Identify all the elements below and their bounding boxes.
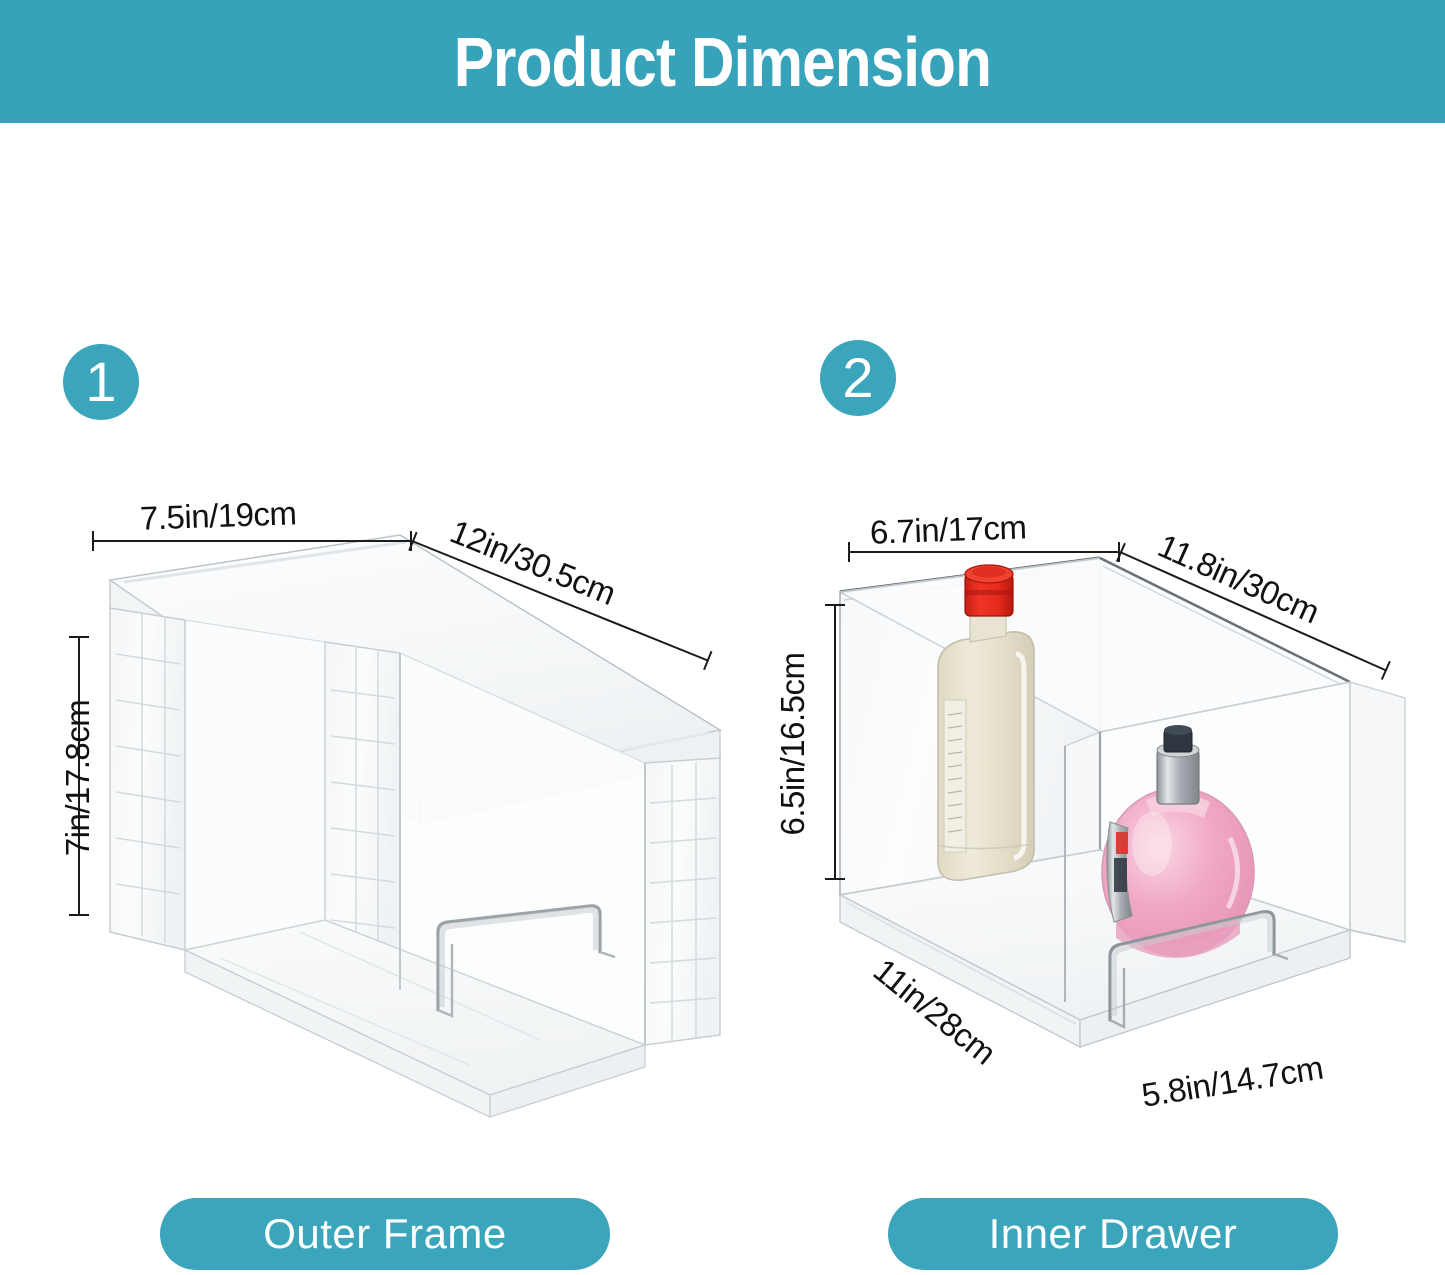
inner-drawer-illustration xyxy=(810,550,1430,1125)
outer-frame-width-label: 7.5in/19cm xyxy=(139,495,297,536)
badge-number-2: 2 xyxy=(820,340,896,416)
product-dimension-infographic: Product Dimension 1 2 xyxy=(0,0,1445,1275)
inner-drawer-width-label: 6.7in/17cm xyxy=(869,509,1027,550)
outer-frame-caption-text: Outer Frame xyxy=(263,1210,507,1258)
header-band: Product Dimension xyxy=(0,0,1445,123)
outer-frame-illustration xyxy=(70,520,750,1135)
outer-frame-height-label: 7in/17.8cm xyxy=(60,638,96,918)
badge-number-1: 1 xyxy=(63,344,139,420)
page-title: Product Dimension xyxy=(454,27,991,97)
inner-drawer-height-label: 6.5in/16.5cm xyxy=(775,606,811,882)
outer-frame-caption-pill: Outer Frame xyxy=(160,1198,610,1270)
inner-drawer-caption-pill: Inner Drawer xyxy=(888,1198,1338,1270)
inner-drawer-width-rule xyxy=(848,551,1120,553)
outer-frame-width-rule xyxy=(92,540,412,542)
inner-drawer-height-rule xyxy=(834,604,836,880)
inner-drawer-caption-text: Inner Drawer xyxy=(989,1210,1238,1258)
